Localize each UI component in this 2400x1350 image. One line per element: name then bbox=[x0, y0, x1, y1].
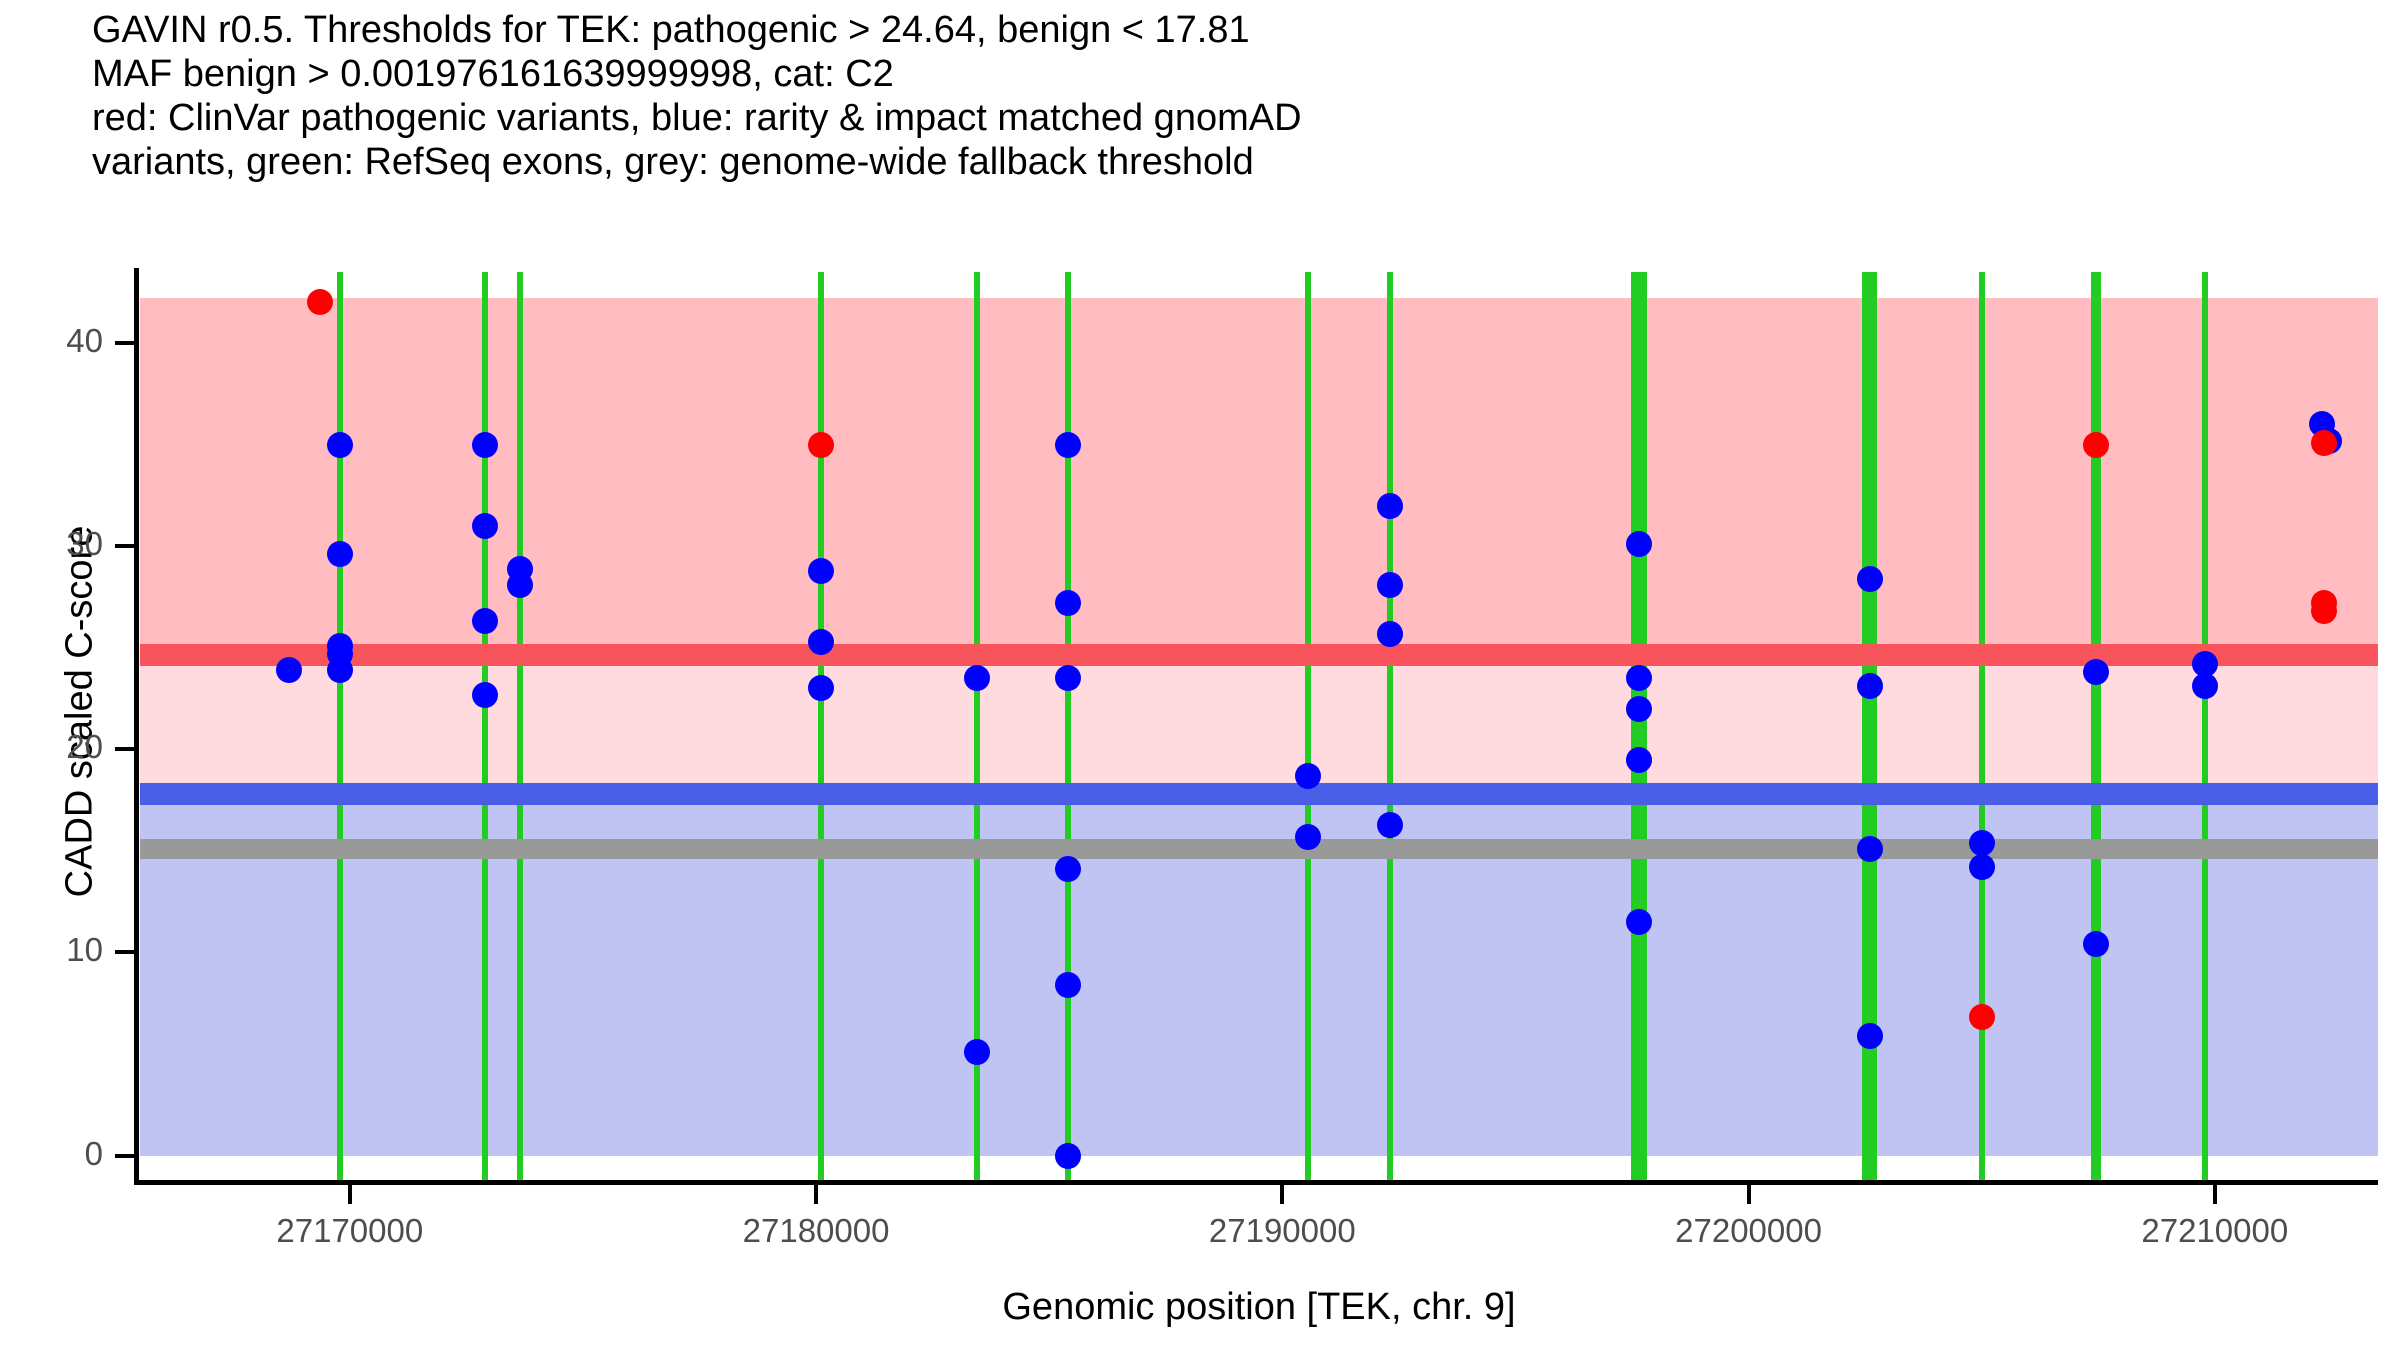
title-line-4: variants, green: RefSeq exons, grey: gen… bbox=[92, 140, 2372, 184]
data-point bbox=[808, 558, 834, 584]
x-tick-label: 27200000 bbox=[1599, 1212, 1899, 1250]
data-point bbox=[1857, 673, 1883, 699]
fallback-threshold-line bbox=[140, 839, 2378, 859]
y-tick-label: 10 bbox=[0, 931, 103, 969]
data-point bbox=[472, 513, 498, 539]
data-point bbox=[327, 432, 353, 458]
data-point bbox=[1295, 763, 1321, 789]
data-point bbox=[1055, 1143, 1081, 1169]
data-point bbox=[1969, 830, 1995, 856]
y-axis-line bbox=[134, 268, 139, 1184]
y-tick-mark bbox=[115, 747, 134, 751]
band-vous-region bbox=[140, 655, 2378, 794]
data-point bbox=[1055, 856, 1081, 882]
exon-line bbox=[1305, 272, 1311, 1180]
data-point bbox=[808, 629, 834, 655]
exon-line bbox=[2202, 272, 2208, 1180]
data-point bbox=[1055, 432, 1081, 458]
exon-line bbox=[818, 272, 824, 1180]
y-tick-label: 20 bbox=[0, 728, 103, 766]
data-point bbox=[1857, 566, 1883, 592]
plot-panel bbox=[140, 272, 2378, 1180]
exon-line bbox=[2091, 272, 2101, 1180]
exon-line bbox=[337, 272, 343, 1180]
benign-threshold-line bbox=[140, 783, 2378, 805]
title-line-3: red: ClinVar pathogenic variants, blue: … bbox=[92, 96, 2372, 140]
x-tick-mark bbox=[348, 1185, 352, 1204]
exon-line bbox=[517, 272, 523, 1180]
exon-line bbox=[482, 272, 488, 1180]
data-point bbox=[2083, 659, 2109, 685]
x-axis-title: Genomic position [TEK, chr. 9] bbox=[140, 1286, 2378, 1329]
y-tick-label: 40 bbox=[0, 322, 103, 360]
data-point bbox=[1055, 590, 1081, 616]
y-tick-mark bbox=[115, 1154, 134, 1158]
data-point bbox=[1626, 531, 1652, 557]
x-tick-label: 27210000 bbox=[2065, 1212, 2365, 1250]
data-point bbox=[964, 665, 990, 691]
data-point bbox=[1377, 621, 1403, 647]
data-point bbox=[1295, 824, 1321, 850]
data-point bbox=[1857, 836, 1883, 862]
data-point bbox=[1857, 1023, 1883, 1049]
data-point bbox=[1377, 493, 1403, 519]
data-point bbox=[507, 572, 533, 598]
data-point bbox=[2083, 432, 2109, 458]
title-line-2: MAF benign > 0.001976161639999998, cat: … bbox=[92, 52, 2372, 96]
data-point bbox=[1626, 747, 1652, 773]
data-point bbox=[808, 675, 834, 701]
data-point bbox=[808, 432, 834, 458]
y-tick-label: 0 bbox=[0, 1135, 103, 1173]
x-axis-line bbox=[134, 1180, 2378, 1185]
data-point bbox=[1626, 696, 1652, 722]
data-point bbox=[472, 432, 498, 458]
x-tick-label: 27170000 bbox=[200, 1212, 500, 1250]
data-point bbox=[1626, 909, 1652, 935]
y-tick-mark bbox=[115, 544, 134, 548]
x-tick-mark bbox=[1747, 1185, 1751, 1204]
data-point bbox=[1055, 665, 1081, 691]
y-tick-mark bbox=[115, 950, 134, 954]
data-point bbox=[472, 682, 498, 708]
x-tick-label: 27180000 bbox=[666, 1212, 966, 1250]
data-point bbox=[307, 289, 333, 315]
pathogenic-threshold-line bbox=[140, 644, 2378, 666]
x-tick-label: 27190000 bbox=[1132, 1212, 1432, 1250]
data-point bbox=[1055, 972, 1081, 998]
exon-line bbox=[1979, 272, 1985, 1180]
chart-root: GAVIN r0.5. Thresholds for TEK: pathogen… bbox=[0, 0, 2400, 1350]
y-tick-label: 30 bbox=[0, 525, 103, 563]
title-line-1: GAVIN r0.5. Thresholds for TEK: pathogen… bbox=[92, 8, 2372, 52]
exon-line bbox=[1065, 272, 1071, 1180]
y-axis-title: CADD scaled C-score bbox=[59, 212, 102, 1212]
chart-title-block: GAVIN r0.5. Thresholds for TEK: pathogen… bbox=[92, 8, 2372, 184]
x-tick-mark bbox=[1280, 1185, 1284, 1204]
data-point bbox=[2311, 430, 2337, 456]
data-point bbox=[964, 1039, 990, 1065]
data-point bbox=[1377, 812, 1403, 838]
data-point bbox=[1377, 572, 1403, 598]
x-tick-mark bbox=[2213, 1185, 2217, 1204]
x-tick-mark bbox=[814, 1185, 818, 1204]
exon-line bbox=[1631, 272, 1646, 1180]
data-point bbox=[1969, 854, 1995, 880]
band-pathogenic-region bbox=[140, 298, 2378, 655]
exon-line bbox=[1387, 272, 1393, 1180]
y-tick-mark bbox=[115, 341, 134, 345]
data-point bbox=[1969, 1004, 1995, 1030]
